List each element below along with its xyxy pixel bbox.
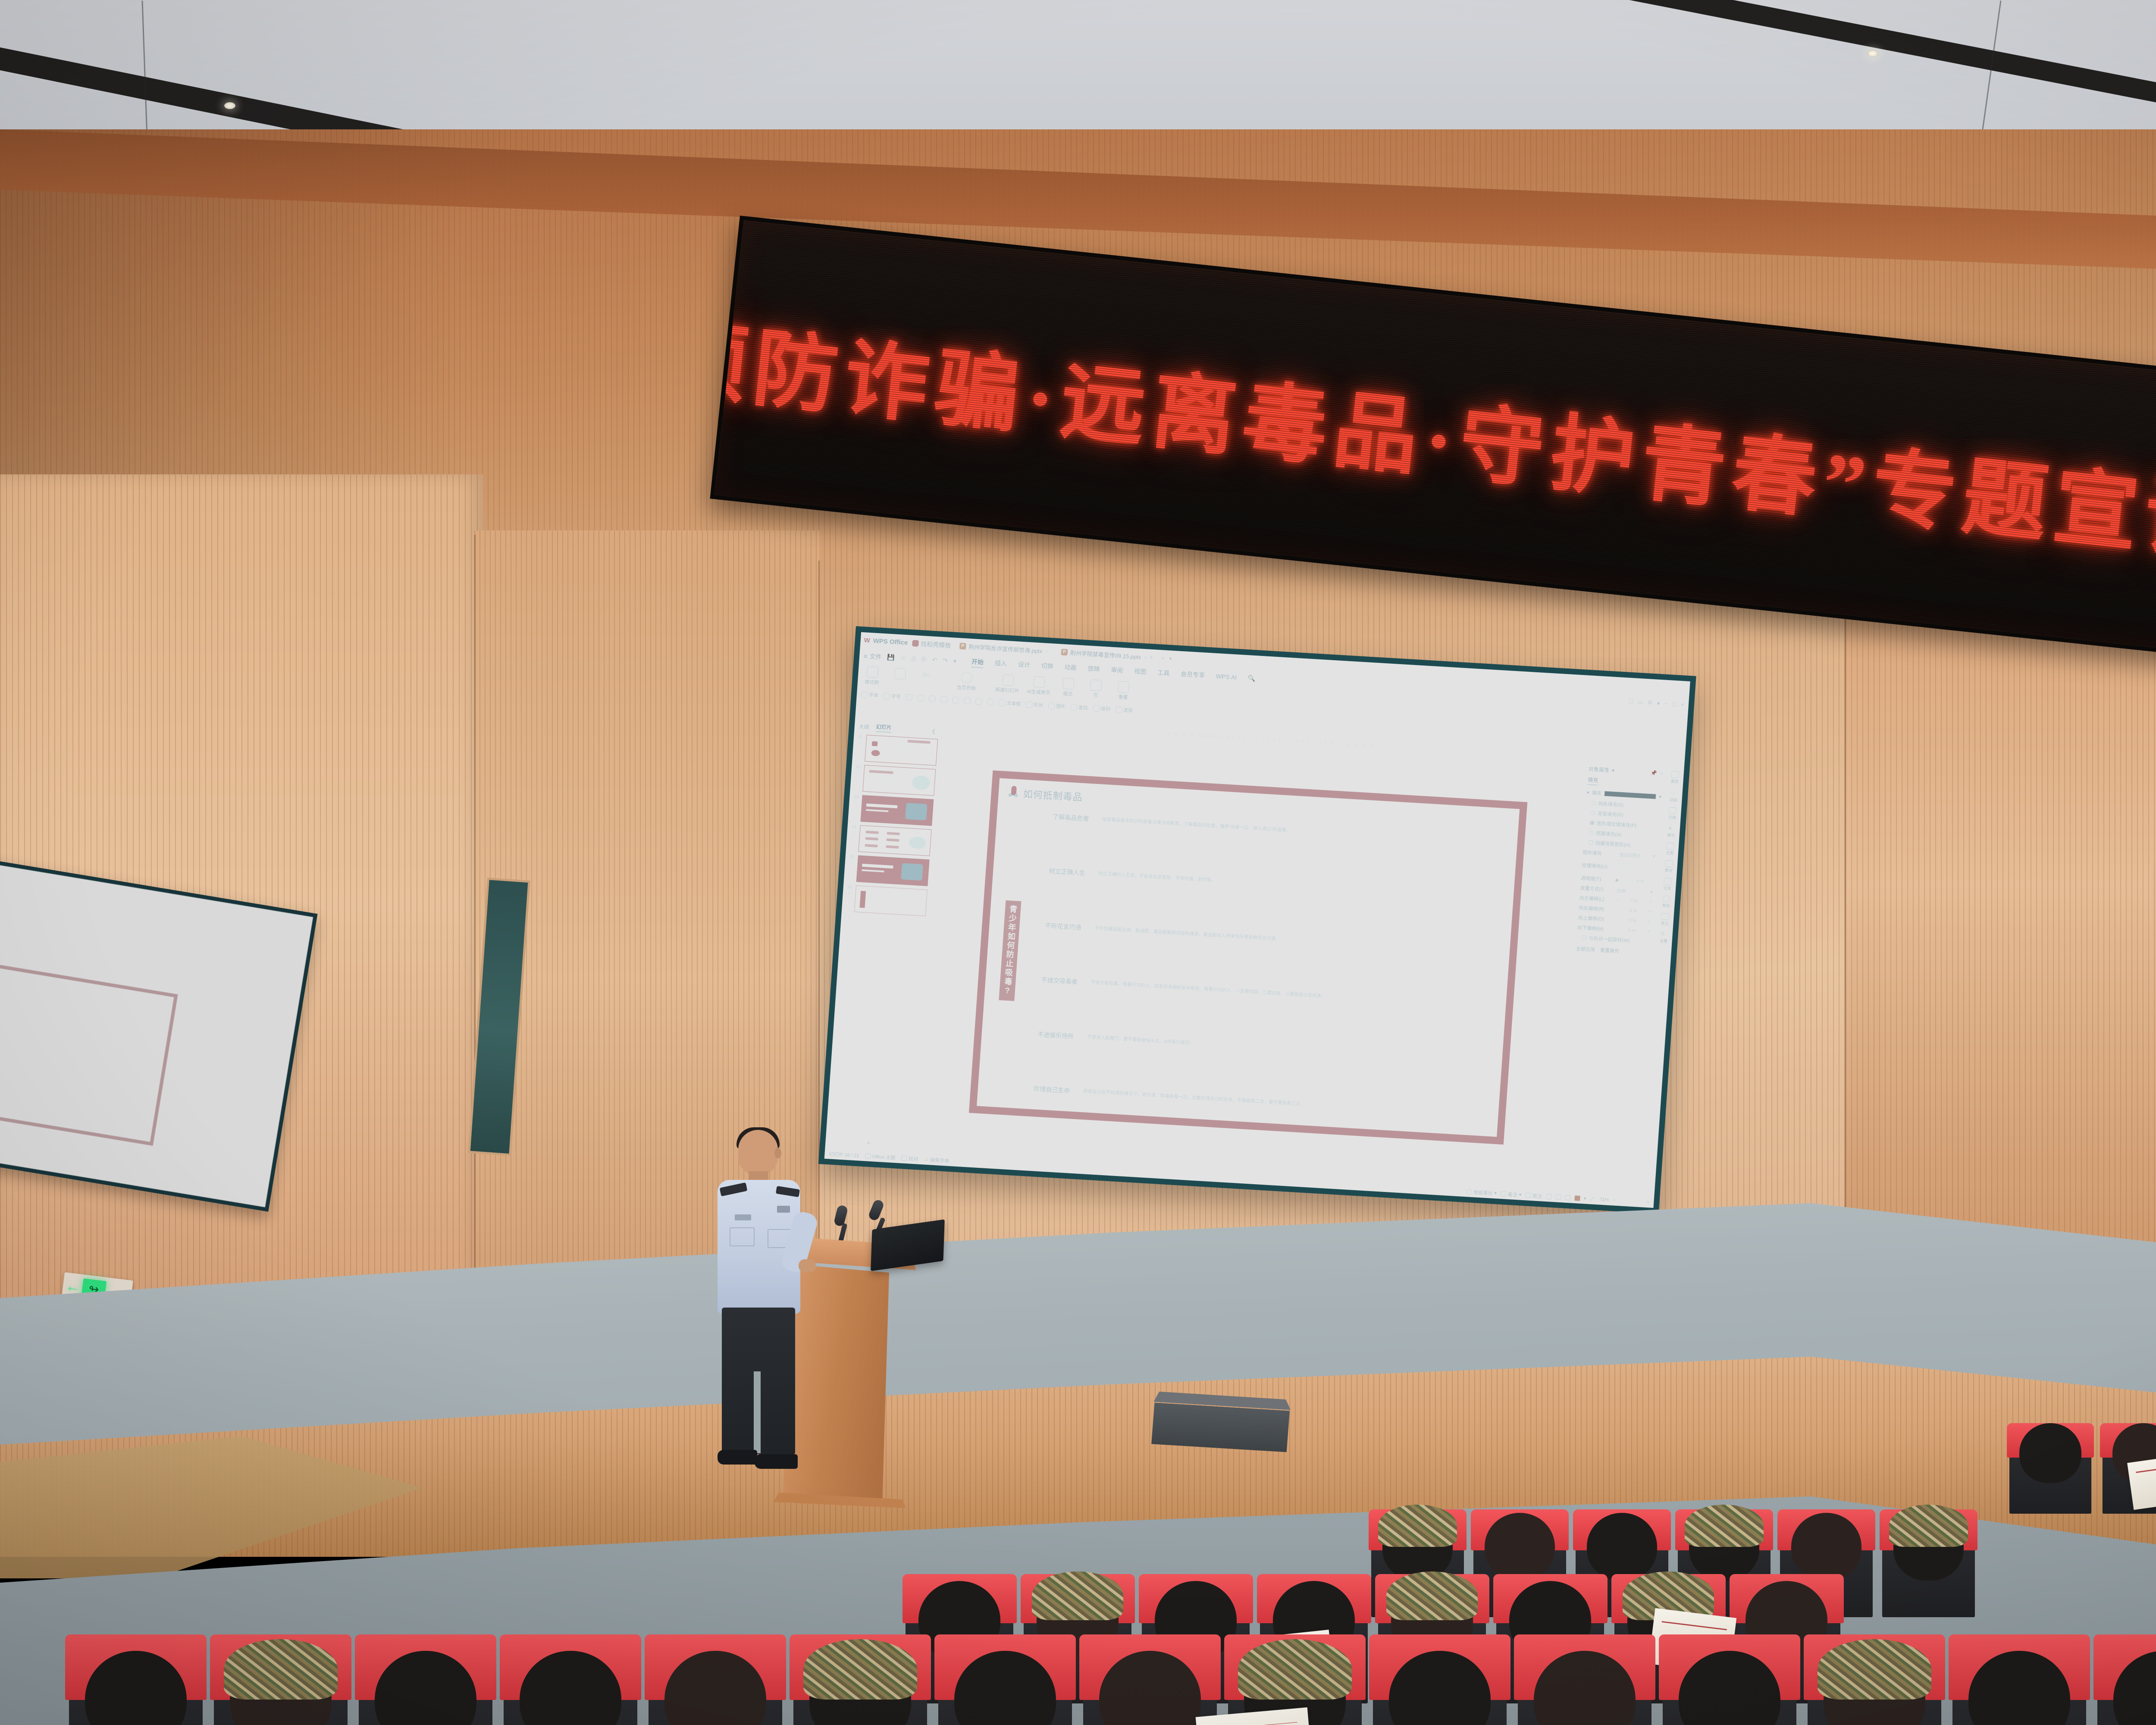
close-icon[interactable]: ×	[1660, 770, 1663, 776]
slide-sorter-icon[interactable]	[1555, 1194, 1561, 1200]
slide-row: 珍惜自己生命 即使自己在不知情的情况下，被引诱、欺骗吸毒一次，也要珍惜自己的生命…	[1026, 1082, 1489, 1123]
collapse-icon[interactable]: ▾	[1587, 790, 1589, 795]
reset-icon	[1118, 681, 1130, 693]
checkbox-icon	[1582, 935, 1586, 940]
seat[interactable]	[504, 1634, 637, 1725]
fill-section: ▾ 填充 ▾	[1587, 789, 1662, 800]
apply-to-all-button[interactable]: 全部应用	[1576, 945, 1595, 953]
picture-label: 图片	[1056, 703, 1066, 710]
transparency-slider[interactable]	[1615, 878, 1632, 882]
template-gallery-link[interactable]: 找稻壳模板	[912, 639, 951, 649]
audience-member	[520, 1651, 621, 1725]
thumbnail-preview	[859, 825, 932, 856]
star-icon[interactable]: ☆	[849, 860, 854, 866]
zoom-out-button[interactable]: −	[1613, 1198, 1616, 1203]
missing-font-warning[interactable]: ⚠ 缺失字体	[924, 1156, 950, 1164]
rail-item-animation-label: 动画	[1670, 797, 1678, 803]
minimize-icon[interactable]: −	[1664, 700, 1668, 707]
format-brush-button[interactable]: 格式刷	[862, 666, 883, 686]
shape-button[interactable]: 形状	[1026, 701, 1044, 709]
projection-screen: W WPS Office 找稻壳模板 P 荆州学院反诈宣传胡世海.pptx ○ …	[818, 626, 1696, 1214]
sliders-icon	[1671, 771, 1680, 778]
thumbnail-number: 16	[847, 885, 852, 890]
fill-option-picture-texture[interactable]: 图片或纹理填充(P)	[1590, 819, 1660, 831]
transparency-value-input[interactable]: 0 %	[1634, 878, 1655, 886]
magic-icon: ✦	[1667, 825, 1676, 832]
security-icon[interactable]: ☉	[1570, 1206, 1574, 1207]
find-button[interactable]: 查找	[1071, 703, 1088, 711]
document-tab-1-label: 荆州学院反诈宣传胡世海.pptx	[968, 643, 1043, 655]
chevron-down-icon[interactable]: ▾	[1611, 767, 1614, 773]
print-preview-icon[interactable]: ⎘	[921, 655, 927, 663]
chevron-down-icon[interactable]: ▾	[953, 658, 956, 665]
reset-button[interactable]: 重置	[1113, 681, 1134, 701]
fill-option-gradient[interactable]: 渐变填充(G)	[1590, 809, 1660, 821]
clock-time: 11:20	[1626, 1207, 1636, 1208]
rail-item-settings-label: 设置	[1660, 938, 1668, 944]
rail-item-comment-label: 批注	[1661, 920, 1669, 926]
slider-knob	[1615, 878, 1618, 881]
picture-button[interactable]: 图片	[1048, 702, 1066, 710]
new-slide-icon	[1002, 674, 1014, 686]
normal-view-icon[interactable]	[1546, 1194, 1552, 1199]
comment-icon	[1661, 913, 1670, 920]
taskbar-clock[interactable]: 11:20 2025/9/15	[1618, 1207, 1636, 1208]
ceiling-downlight-3	[1867, 50, 1878, 57]
chevron-down-icon: ▾	[1650, 890, 1653, 894]
plus-icon[interactable]: +	[1648, 910, 1651, 914]
arrange-button[interactable]: 排列	[1093, 705, 1111, 712]
play-from-here-label: 当页开始	[956, 684, 976, 692]
rotate-with-shape-checkbox[interactable]: 与形状一起旋转(W)	[1582, 934, 1651, 945]
rail-item-theme-label: 主题	[1666, 850, 1674, 856]
thumbnail-preview	[856, 855, 930, 886]
offset-left-stepper[interactable]: − 0 % +	[1614, 897, 1655, 905]
format-brush-label: 格式刷	[865, 678, 879, 686]
paste-button[interactable]	[890, 668, 911, 680]
fill-option-pattern[interactable]: 图案填充(A)	[1589, 829, 1659, 841]
tablet-icon[interactable]: ▭	[1638, 698, 1643, 706]
wall-seam-2	[818, 561, 820, 1337]
seat[interactable]	[1518, 1634, 1651, 1725]
seat[interactable]	[2097, 1634, 2156, 1725]
thumbnail-meta: 15 ☆	[846, 855, 857, 866]
undo-icon[interactable]: ↶	[932, 656, 937, 664]
plus-icon[interactable]: +	[1649, 900, 1652, 904]
save-icon[interactable]: 💾	[887, 653, 895, 661]
spellcheck-icon	[901, 1155, 907, 1161]
placement-value: 拉伸	[1617, 887, 1626, 894]
picture-fill-field: 图片填充 请选择图片 ▾	[1583, 849, 1658, 860]
camouflage-cap	[1386, 1571, 1478, 1620]
audience-member	[1534, 1651, 1636, 1725]
reading-view-icon[interactable]	[1565, 1195, 1571, 1200]
template-icon	[912, 640, 919, 647]
transparency-label: 透明度(T)	[1581, 875, 1613, 883]
align-button[interactable]	[987, 699, 994, 706]
rail-item-settings[interactable]: ⚙ 设置	[1660, 931, 1668, 944]
audience-member	[85, 1651, 187, 1725]
cut-icon: ✄	[922, 669, 934, 681]
slideshow-play-button[interactable]	[1574, 1195, 1580, 1201]
mini-slide	[0, 959, 178, 1146]
transition-icon	[1669, 807, 1677, 815]
tab-design[interactable]: 设计	[1018, 660, 1031, 671]
italic-button[interactable]	[917, 694, 924, 701]
notes-label: 备注	[1507, 1190, 1517, 1198]
font-label: 字体	[868, 691, 878, 699]
spellcheck-indicator[interactable]: 校对	[901, 1154, 918, 1162]
pin-icon[interactable]: 📌	[1650, 769, 1657, 776]
camouflage-cap	[803, 1639, 917, 1700]
audience-member	[1824, 1651, 1925, 1725]
radio-icon	[1591, 801, 1596, 806]
network-icon[interactable]: 🌐	[1593, 1207, 1600, 1208]
file-menu-label: 文件	[869, 652, 882, 662]
offset-bottom-stepper[interactable]: − 0 % +	[1612, 926, 1652, 935]
thumbnail-meta: 11 ☆	[855, 734, 865, 745]
close-icon[interactable]: ×	[1150, 654, 1153, 661]
notes-button[interactable]: 备注 ▾	[1500, 1190, 1522, 1198]
cut-button[interactable]: ✄	[918, 669, 938, 682]
find-label: 查找	[1078, 704, 1088, 711]
wps-body: 大纲 幻灯片 ❮ 11 ☆	[825, 719, 1684, 1197]
underline-button[interactable]	[929, 695, 936, 702]
comments-button[interactable]: 批注	[1525, 1192, 1542, 1199]
offset-bottom-value: 0 %	[1628, 928, 1636, 933]
checkbox-icon	[1589, 841, 1593, 845]
placement-label: 放置方式(I)	[1580, 884, 1612, 893]
arrange-icon	[1093, 705, 1100, 712]
offset-left-value: 0 %	[1630, 898, 1638, 903]
thumbnail-meta: 12 ☆	[853, 764, 863, 775]
theme-label: Office 主题	[872, 1153, 896, 1161]
tab-slides[interactable]: 幻灯片	[876, 723, 892, 733]
offset-right-stepper[interactable]: − 0 % +	[1613, 906, 1654, 915]
beautify-button[interactable]: 智能美化 ▾	[1466, 1188, 1497, 1197]
rail-item-animation[interactable]: ☆ 动画	[1670, 790, 1678, 803]
chevron-down-icon[interactable]: ▾	[1169, 655, 1172, 662]
select-label: 选择	[1123, 706, 1133, 714]
slide-row-key: 不听花言巧语	[1037, 918, 1089, 935]
texture-swatch-grid[interactable]	[1616, 861, 1635, 875]
rail-item-beautify[interactable]: ✦ 美化	[1667, 825, 1676, 838]
rail-item-assets-label: 素材	[1664, 867, 1673, 873]
numbering-button[interactable]	[964, 697, 971, 704]
close-icon[interactable]: ○	[1144, 654, 1147, 660]
search-icon[interactable]: 🔍	[1247, 674, 1256, 684]
placement-select[interactable]: 拉伸 ▾	[1614, 887, 1655, 895]
seat[interactable]	[1952, 1634, 2086, 1725]
font-size-control[interactable]: 字号	[883, 692, 901, 700]
maximize-icon[interactable]: ◻	[1672, 700, 1677, 708]
slide-content: 青少年如何防止吸毒? 了解毒品危害 接受毒品基本知识和禁毒法律法规教育，了解毒品…	[987, 805, 1508, 1124]
thumbnail-number: 14	[852, 825, 857, 830]
new-slide-button[interactable]: 新建幻灯片	[995, 674, 1020, 694]
properties-header: 对象属性 ▾ 📌 ×	[1588, 765, 1663, 777]
italic-icon	[917, 694, 924, 701]
font-icon	[861, 691, 868, 698]
seat[interactable]	[359, 1634, 492, 1725]
thumbnail-number: 11	[858, 734, 863, 740]
tab-view[interactable]: 视图	[1134, 667, 1147, 677]
slide-row: 树立正确人生 树立正确的人生观，不盲目追求享受、寻求刺激、赶时髦。	[1041, 864, 1504, 905]
tab-review[interactable]: 审阅	[1111, 665, 1124, 676]
tab-transition[interactable]: 切换	[1041, 662, 1054, 672]
rail-item-transition-label: 切换	[1668, 815, 1677, 821]
play-from-here-button[interactable]: 当页开始	[956, 671, 977, 692]
properties-header-actions: 📌 ×	[1650, 769, 1663, 776]
audience-member	[1679, 1651, 1780, 1725]
tab-member[interactable]: 会员专享	[1180, 670, 1205, 681]
thumbnail-item-15[interactable]: 15 ☆	[846, 855, 930, 886]
textbox-label: 文本框	[1006, 699, 1021, 707]
thumbnail-item-14[interactable]: 14 ☆	[848, 825, 932, 856]
audience-member	[375, 1651, 476, 1725]
zoom-slider[interactable]	[1620, 1200, 1643, 1202]
rail-item-theme[interactable]: 主题	[1666, 842, 1674, 856]
rail-item-assets[interactable]: 素材	[1664, 860, 1673, 873]
audience-member	[1893, 1513, 1964, 1581]
ime-indicator[interactable]: 中	[1585, 1206, 1590, 1208]
slide-title: 如何抵制毒品	[1023, 786, 1083, 803]
bold-button[interactable]	[906, 694, 912, 701]
chevron-down-icon[interactable]: ▾	[1584, 1195, 1586, 1201]
theme-indicator[interactable]: Office 主题	[865, 1152, 896, 1161]
minus-icon[interactable]: −	[1614, 927, 1617, 932]
texture-fill-label: 纹理填充(U)	[1582, 862, 1614, 870]
slide-row-key: 不结交吸毒者	[1034, 972, 1085, 989]
select-button[interactable]: 选择	[1115, 706, 1133, 714]
section-label: 节	[1093, 692, 1098, 699]
offset-top-field: 向上偏移(O) − 0 % +	[1578, 914, 1653, 925]
section-button[interactable]: 节	[1085, 679, 1106, 699]
thumbnail-meta: 13 ☆	[851, 794, 861, 805]
picture-fill-label: 图片填充	[1583, 849, 1615, 857]
rail-item-help[interactable]: 帮助	[1662, 895, 1670, 909]
audience-member	[2019, 1423, 2081, 1483]
textbox-button[interactable]: 文本框	[999, 699, 1021, 707]
textbox-icon	[999, 699, 1006, 706]
speaker-name-badge	[735, 1214, 751, 1220]
texture-fill-field: 纹理填充(U)	[1581, 859, 1657, 876]
seat[interactable]	[69, 1634, 203, 1725]
fill-color-swatch[interactable]	[1604, 790, 1657, 799]
tab-insert[interactable]: 插入	[994, 659, 1007, 669]
numbering-icon	[964, 697, 971, 704]
offset-right-value: 0 %	[1630, 908, 1637, 913]
tab-start[interactable]: 开始	[971, 657, 984, 668]
seat[interactable]	[1882, 1509, 1975, 1617]
star-icon: ☆	[1670, 790, 1678, 797]
font-size-icon	[883, 693, 890, 699]
fill-option-picture-texture-label: 图片或纹理填充(P)	[1597, 820, 1637, 829]
placement-field: 放置方式(I) 拉伸 ▾	[1580, 884, 1655, 896]
fill-option-solid[interactable]: 纯色填充(S)	[1591, 800, 1661, 811]
star-icon[interactable]: ☆	[847, 891, 852, 896]
star-icon[interactable]: ☆	[854, 800, 858, 805]
magic-icon	[1466, 1189, 1472, 1195]
file-menu-button[interactable]: ≡ 文件	[864, 652, 882, 661]
radio-icon-selected	[1590, 821, 1595, 825]
slide-vertical-banner: 青少年如何防止吸毒?	[999, 900, 1021, 1001]
thumbnail-meta: 16 ☆	[844, 885, 855, 896]
layout-button[interactable]: 版式	[1058, 677, 1079, 698]
offset-bottom-field: 向下偏移(M) − 0 % +	[1577, 924, 1652, 935]
font-control[interactable]: 字体	[861, 691, 878, 699]
notification-icon[interactable]: ⚐	[1577, 1207, 1582, 1208]
rail-item-properties[interactable]: 属性	[1669, 770, 1680, 785]
thumbnail-item-13[interactable]: 13 ☆	[849, 794, 934, 826]
cloud-sync-icon[interactable]: ☉	[900, 654, 906, 662]
seat[interactable]	[938, 1634, 1072, 1725]
comments-label: 批注	[1532, 1192, 1542, 1199]
settings-icon[interactable]: ⚙	[1647, 699, 1653, 706]
tab-tools[interactable]: 工具	[1157, 668, 1170, 679]
audience-member	[1689, 1513, 1759, 1581]
fit-to-window-icon[interactable]: ⤢	[1590, 1196, 1596, 1202]
select-icon	[1115, 706, 1122, 713]
audience-member	[1099, 1651, 1201, 1725]
fill-option-pattern-label: 图案填充(A)	[1596, 830, 1622, 838]
camouflage-cap	[1818, 1639, 1931, 1700]
search-icon	[1071, 703, 1078, 710]
camouflage-cap	[1685, 1505, 1764, 1546]
seat[interactable]	[214, 1634, 348, 1725]
bold-icon	[906, 694, 912, 701]
slide-canvas[interactable]: 如何抵制毒品 青少年如何防止吸毒? 了解毒品危害 接受毒品基本知识和禁毒法律法规…	[911, 724, 1585, 1191]
seat[interactable]	[1663, 1634, 1796, 1725]
seat[interactable]	[793, 1634, 927, 1725]
new-tab-button[interactable]: +	[1161, 655, 1165, 661]
slide-16[interactable]: 如何抵制毒品 青少年如何防止吸毒? 了解毒品危害 接受毒品基本知识和禁毒法律法规…	[969, 770, 1527, 1145]
star-icon[interactable]: ☆	[856, 770, 860, 775]
offset-top-stepper[interactable]: − 0 % +	[1612, 916, 1653, 925]
plus-icon[interactable]: +	[1648, 919, 1651, 924]
properties-footer-buttons: 全部应用 重置填充	[1576, 945, 1651, 956]
chevron-down-icon: ▾	[1653, 854, 1655, 859]
shape-icon	[1026, 701, 1033, 708]
warning-icon: ⚠	[924, 1157, 929, 1163]
rail-item-properties-label: 属性	[1671, 778, 1679, 784]
ribbon-divider	[946, 671, 948, 693]
help-icon	[1662, 895, 1670, 903]
chevron-down-icon[interactable]: ▾	[1659, 794, 1661, 800]
print-icon[interactable]: ⎙	[911, 655, 916, 663]
seat[interactable]	[649, 1634, 782, 1725]
avatar[interactable]: ●	[1657, 699, 1661, 706]
window-tools-icon[interactable]: ☐	[1628, 698, 1634, 705]
wall-seam-1	[474, 535, 476, 1354]
missing-font-label: 缺失字体	[930, 1156, 950, 1164]
seat[interactable]	[1808, 1634, 1941, 1725]
seat[interactable]	[1083, 1634, 1217, 1725]
tab-animation[interactable]: 动画	[1064, 663, 1077, 674]
rail-item-comment[interactable]: 批注	[1661, 913, 1670, 926]
speaker-hand	[799, 1259, 816, 1272]
theme-icon	[865, 1153, 871, 1159]
hamburger-icon: ≡	[864, 652, 868, 659]
comment-icon	[1525, 1192, 1531, 1198]
rail-item-beautify-label: 美化	[1667, 832, 1675, 838]
fill-section-label: 填充	[1592, 789, 1601, 797]
slide-row-key: 树立正确人生	[1041, 864, 1093, 881]
slide-rows: 了解毒品危害 接受毒品基本知识和禁毒法律法规教育，了解毒品的危害，懂得“吸毒一口…	[1015, 807, 1508, 1124]
seat-row-front	[69, 1634, 2156, 1725]
offset-left-label: 向左偏移(L)	[1579, 894, 1612, 903]
close-icon[interactable]: ×	[1681, 701, 1685, 708]
rail-item-transition[interactable]: 切换	[1668, 807, 1677, 821]
seat[interactable]	[1373, 1634, 1507, 1725]
zoom-in-button[interactable]: +	[1646, 1200, 1649, 1205]
spellcheck-label: 校对	[909, 1155, 918, 1162]
text-color-icon	[940, 696, 947, 703]
underline-icon	[929, 695, 936, 702]
minus-icon[interactable]: −	[1615, 907, 1618, 912]
layout-label: 版式	[1063, 690, 1073, 697]
thumbnail-item-11[interactable]: 11 ☆	[854, 734, 938, 765]
camouflage-cap	[224, 1639, 338, 1700]
thumbnail-item-12[interactable]: 12 ☆	[852, 764, 936, 796]
tab-slideshow[interactable]: 放映	[1087, 664, 1100, 675]
redo-icon[interactable]: ↷	[943, 657, 948, 665]
chevron-up-icon[interactable]: ▴	[1564, 1206, 1566, 1208]
camouflage-cap	[1378, 1505, 1457, 1546]
offset-left-field: 向左偏移(L) − 0 % +	[1579, 894, 1655, 906]
tab-wps-ai[interactable]: WPS AI	[1216, 673, 1237, 682]
seat[interactable]	[2009, 1423, 2091, 1514]
paragraph-button[interactable]	[975, 698, 982, 705]
audience-member	[1968, 1651, 2070, 1725]
hide-background-graphics-checkbox[interactable]: 隐藏背景图形(H)	[1589, 839, 1658, 850]
speaker-pocket-left	[730, 1227, 755, 1246]
slide-row-value: 即使自己在不知情的情况下，被引诱、欺骗吸毒一次，也要珍惜自己的生命，不再吸第二次…	[1083, 1088, 1489, 1120]
menubar-right: ☐ ▭ ⚙ ● − ◻ ×	[1628, 698, 1684, 708]
plus-icon[interactable]: +	[1647, 929, 1650, 934]
offset-bottom-label: 向下偏移(M)	[1577, 924, 1610, 932]
picture-icon	[1048, 702, 1055, 709]
text-color-button[interactable]	[940, 696, 947, 703]
slide-row-key: 了解毒品危害	[1045, 809, 1097, 826]
reset-fill-button[interactable]: 重置填充	[1600, 947, 1619, 955]
play-from-here-icon	[961, 672, 973, 684]
star-icon[interactable]: ☆	[852, 830, 856, 835]
thumbnail-item-16[interactable]: 16 ☆	[843, 885, 928, 916]
rail-item-help-label: 帮助	[1662, 903, 1670, 909]
chevron-left-icon[interactable]: ❮	[931, 728, 936, 734]
slide-row-value: 不要进入歌舞厅，更不要吸食摇头丸、K粉等兴奋剂。	[1087, 1033, 1492, 1065]
picture-fill-select[interactable]: 请选择图片 ▾	[1617, 851, 1658, 859]
document-tab-2-label: 荆州学院禁毒宣传09.15.pptx	[1070, 649, 1141, 661]
format-brush-icon	[867, 666, 879, 678]
new-slide-label: 新建幻灯片	[995, 686, 1019, 694]
audience-member	[1587, 1513, 1657, 1581]
audience-member	[664, 1651, 766, 1725]
minus-icon[interactable]: −	[1616, 897, 1619, 902]
star-icon[interactable]: ☆	[858, 740, 862, 745]
ai-slide-button[interactable]: AI生成单页	[1027, 676, 1051, 696]
bullets-button[interactable]	[952, 696, 959, 703]
rail-item-library[interactable]: 文库	[1663, 878, 1672, 891]
thumbnail-number: 13	[853, 794, 859, 800]
close-icon[interactable]: ○	[1045, 648, 1049, 654]
audience-member	[1389, 1651, 1491, 1725]
properties-tab-fill[interactable]: 填充	[1587, 776, 1598, 785]
picture-fill-value: 请选择图片	[1619, 851, 1641, 859]
tab-outline[interactable]: 大纲	[859, 723, 869, 731]
slide-row-key: 珍惜自己生命	[1026, 1082, 1078, 1098]
minus-icon[interactable]: −	[1614, 917, 1617, 922]
